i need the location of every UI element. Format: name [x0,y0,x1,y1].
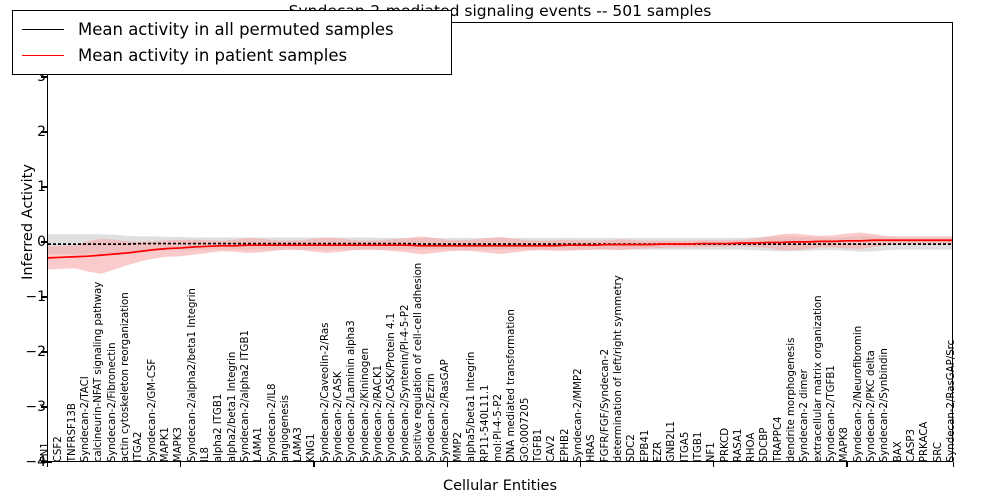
x-tick-mark [180,462,181,467]
x-tick-label: angiogenesis [281,395,291,462]
x-tick-label: SRC [933,442,943,462]
x-tick-mark [447,462,448,467]
x-tick-label: Syndecan-2/Laminin alpha3 [347,320,357,462]
x-tick-label: Syndecan-2/Ezrin [427,373,437,462]
x-tick-label: LAMA3 [294,427,304,462]
x-tick-label: Syndecan-2/CASK/Protein 4.1 [387,313,397,462]
x-tick-label: Syndecan-2/RasGAP [441,359,451,462]
x-tick-label: alpha2 ITGB1 [214,393,224,462]
x-tick-mark [47,462,48,467]
chart-legend: Mean activity in all permuted samples Me… [12,10,452,75]
x-tick-label: alpha2/beta1 Integrin [227,351,237,462]
x-tick-label: alpha5/beta1 Integrin [467,351,477,462]
x-tick-label: TNFRSF13B [67,403,77,462]
x-tick-label: DNA mediated transformation [507,309,517,462]
x-tick-label: Syndecan-2/MMP2 [574,368,584,462]
x-tick-label: CAV2 [547,435,557,462]
x-tick-label: Syndecan-2/GM-CSF [147,359,157,462]
legend-item-permuted: Mean activity in all permuted samples [22,16,442,42]
x-tick-label: Syndecan-2/RACK1 [374,365,384,462]
x-tick-label: RASA1 [734,428,744,462]
x-tick-label: Syndecan-2/PKC delta [867,350,877,462]
x-tick-label: CASP3 [907,429,917,462]
x-tick-label: EPHB2 [560,428,570,462]
x-tick-label: calcineurin-NFAT signaling pathway [94,281,104,462]
x-tick-label: BAX [894,441,904,462]
x-tick-label: Syndecan-2/TACI [81,376,91,462]
figure: Syndecan-2-mediated signaling events -- … [0,0,1000,500]
x-tick-label: PRKACA [920,421,930,462]
x-tick-mark [313,462,314,467]
x-tick-label: EZR [654,442,664,463]
x-tick-label: MAPK1 [161,427,171,462]
x-tick-label: MAPK3 [174,427,184,462]
legend-label-patient: Mean activity in patient samples [78,46,347,65]
x-axis-label: Cellular Entities [47,478,953,494]
x-tick-label: HRAS [587,434,597,462]
x-tick-label: SDC2 [627,434,637,462]
x-tick-label: GNB2L1 [667,421,677,462]
legend-item-patient: Mean activity in patient samples [22,42,442,68]
x-tick-label: Syndecan-2/TGFB1 [827,365,837,462]
x-tick-label: determination of left/right symmetry [614,275,624,462]
x-tick-label: ITGA2 [134,431,144,462]
x-tick-label: actin cytoskeleton reorganization [121,292,131,462]
legend-label-permuted: Mean activity in all permuted samples [78,20,394,39]
x-tick-label: Syndecan-2/alpha2/beta1 Integrin [187,288,197,462]
x-tick-mark [953,462,954,467]
x-tick-label: Syndecan-2/RasGAP/Src [947,340,957,462]
x-tick-label: ITGB1 [694,431,704,462]
x-tick-label: MAPK8 [840,427,850,462]
x-tick-label: Syndecan-2/Kininogen [361,348,371,462]
x-tick-label: FGFR/FGF/Syndecan-2 [600,349,610,462]
x-tick-label: Syndecan-2/Caveolin-2/Ras [321,322,331,462]
x-tick-label: TGFB1 [534,429,544,462]
x-tick-label: Syndecan-2/Neurofibromin [854,326,864,462]
x-tick-label: SDCBP [760,427,770,462]
x-tick-label: RHOA [747,432,757,462]
x-tick-label: MMP2 [454,432,464,462]
x-tick-mark [713,462,714,467]
x-tick-label: mol:PI-4-5-P2 [494,394,504,462]
x-tick-label: Syndecan-2/alpha2 ITGB1 [241,330,251,462]
x-tick-label: TRAPPC4 [774,416,784,462]
x-tick-label: positive regulation of cell-cell adhesio… [414,263,424,462]
x-tick-mark [846,462,847,467]
x-tick-label: KNG1 [307,433,317,462]
legend-line-permuted [22,29,64,30]
x-tick-label: LAMA1 [254,427,264,462]
legend-line-patient [22,55,64,56]
x-tick-label: Syndecan-2/Syntenin/PI-4-5-P2 [401,304,411,462]
x-tick-label: GO:0007205 [520,397,530,462]
x-tick-label: Syndecan-2/CASK [334,371,344,462]
x-tick-label: EPB41 [640,429,650,462]
x-tick-label: NF1 [707,442,717,462]
x-tick-label: RP11-540L11.1 [480,384,490,462]
x-tick-label: Syndecan-2/IL8 [267,383,277,462]
x-tick-label: Syndecan-2 dimer [800,369,810,462]
x-tick-label: CSF2 [54,436,64,462]
x-tick-label: Syndecan-2/Synbindin [880,348,890,462]
x-tick-label: dendrite morphogenesis [787,337,797,462]
x-tick-mark [580,462,581,467]
x-tick-label: Syndecan-2/Fibronectin [107,342,117,462]
x-tick-label: IL8 [201,447,211,462]
x-tick-label: FN1 [41,442,51,462]
x-tick-label: extracellular matrix organization [814,295,824,462]
x-tick-label: PRKCD [720,428,730,462]
x-tick-label: ITGA5 [680,431,690,462]
